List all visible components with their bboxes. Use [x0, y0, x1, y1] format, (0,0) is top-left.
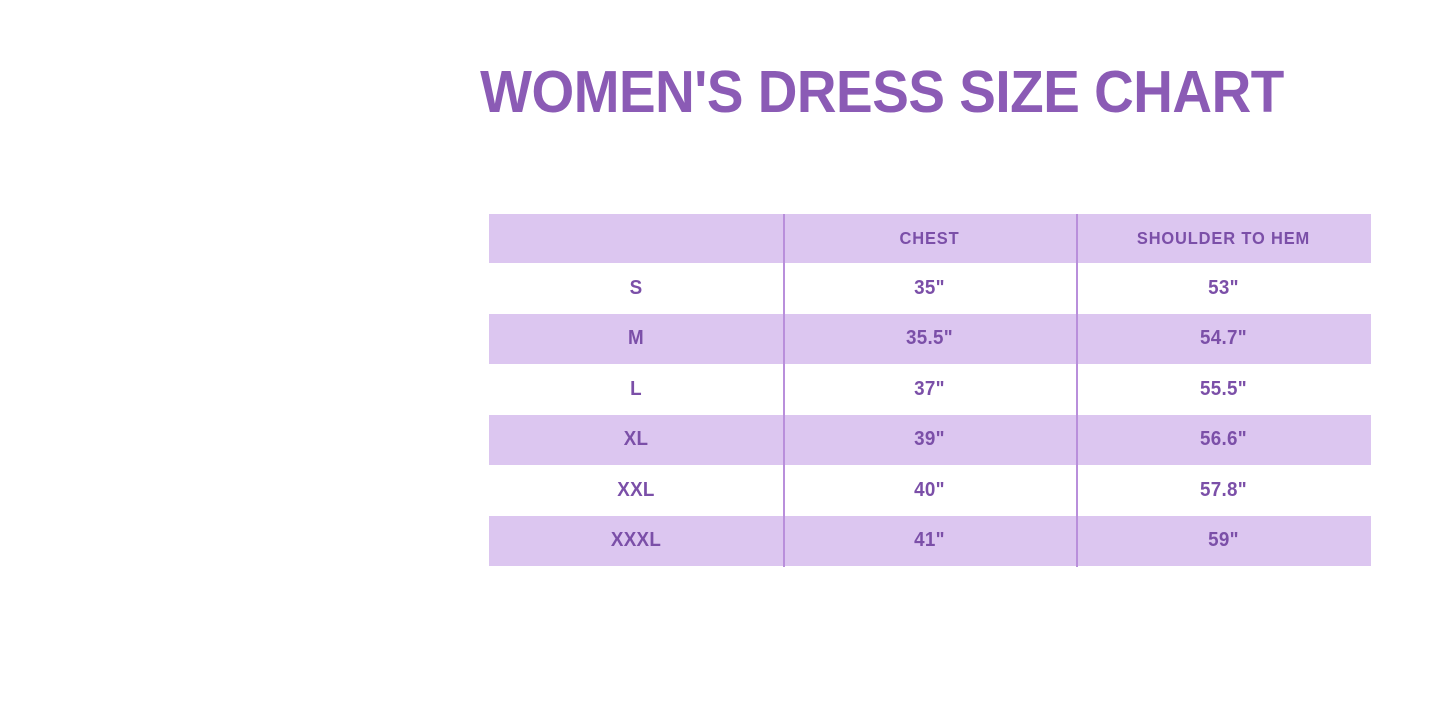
column-header-chest-label: CHEST: [792, 228, 1067, 249]
chest-value: 35.5": [792, 327, 1067, 350]
size-chart-table: CHEST SHOULDER TO HEM S 35" 53: [489, 214, 1371, 566]
size-chart-page: WOMEN'S DRESS SIZE CHART CHEST SHOULDER: [0, 0, 1445, 723]
shoulder-to-hem-value: 57.8": [1085, 479, 1362, 502]
page-title: WOMEN'S DRESS SIZE CHART: [357, 56, 1406, 128]
shoulder-to-hem-value: 54.7": [1085, 327, 1362, 350]
shoulder-to-hem-value: 55.5": [1085, 378, 1362, 401]
column-header-shoulder-to-hem-label: SHOULDER TO HEM: [1085, 228, 1362, 249]
cell-size: M: [489, 314, 783, 365]
cell-chest: 41": [783, 516, 1076, 567]
column-header-size: [489, 214, 783, 263]
size-label: L: [498, 378, 774, 401]
cell-size: S: [489, 263, 783, 314]
cell-size: XXXL: [489, 516, 783, 567]
shoulder-to-hem-value: 59": [1085, 529, 1362, 552]
cell-shoulder-to-hem: 56.6": [1076, 415, 1371, 466]
size-label: XXL: [498, 479, 774, 502]
cell-chest: 35": [783, 263, 1076, 314]
cell-shoulder-to-hem: 57.8": [1076, 465, 1371, 516]
size-label: M: [498, 327, 774, 350]
size-label: S: [498, 277, 774, 300]
table-body: S 35" 53" M 35.5": [489, 263, 1371, 566]
cell-shoulder-to-hem: 53": [1076, 263, 1371, 314]
shoulder-to-hem-value: 56.6": [1085, 428, 1362, 451]
size-chart-table-container: CHEST SHOULDER TO HEM S 35" 53: [489, 214, 1371, 567]
table-row: L 37" 55.5": [489, 364, 1371, 415]
cell-chest: 39": [783, 415, 1076, 466]
cell-chest: 37": [783, 364, 1076, 415]
shoulder-to-hem-value: 53": [1085, 277, 1362, 300]
table-header: CHEST SHOULDER TO HEM: [489, 214, 1371, 263]
table-row: XXL 40" 57.8": [489, 465, 1371, 516]
table-row: XXXL 41" 59": [489, 516, 1371, 567]
cell-shoulder-to-hem: 55.5": [1076, 364, 1371, 415]
column-header-shoulder-to-hem: SHOULDER TO HEM: [1076, 214, 1371, 263]
table-row: S 35" 53": [489, 263, 1371, 314]
chest-value: 37": [792, 378, 1067, 401]
table-header-row: CHEST SHOULDER TO HEM: [489, 214, 1371, 263]
cell-shoulder-to-hem: 59": [1076, 516, 1371, 567]
table-row: XL 39" 56.6": [489, 415, 1371, 466]
size-label: XL: [498, 428, 774, 451]
cell-chest: 40": [783, 465, 1076, 516]
cell-size: XL: [489, 415, 783, 466]
table-row: M 35.5" 54.7": [489, 314, 1371, 365]
cell-size: L: [489, 364, 783, 415]
chest-value: 40": [792, 479, 1067, 502]
cell-shoulder-to-hem: 54.7": [1076, 314, 1371, 365]
chest-value: 41": [792, 529, 1067, 552]
cell-chest: 35.5": [783, 314, 1076, 365]
chest-value: 35": [792, 277, 1067, 300]
cell-size: XXL: [489, 465, 783, 516]
size-label: XXXL: [498, 529, 774, 552]
chest-value: 39": [792, 428, 1067, 451]
column-header-chest: CHEST: [783, 214, 1076, 263]
